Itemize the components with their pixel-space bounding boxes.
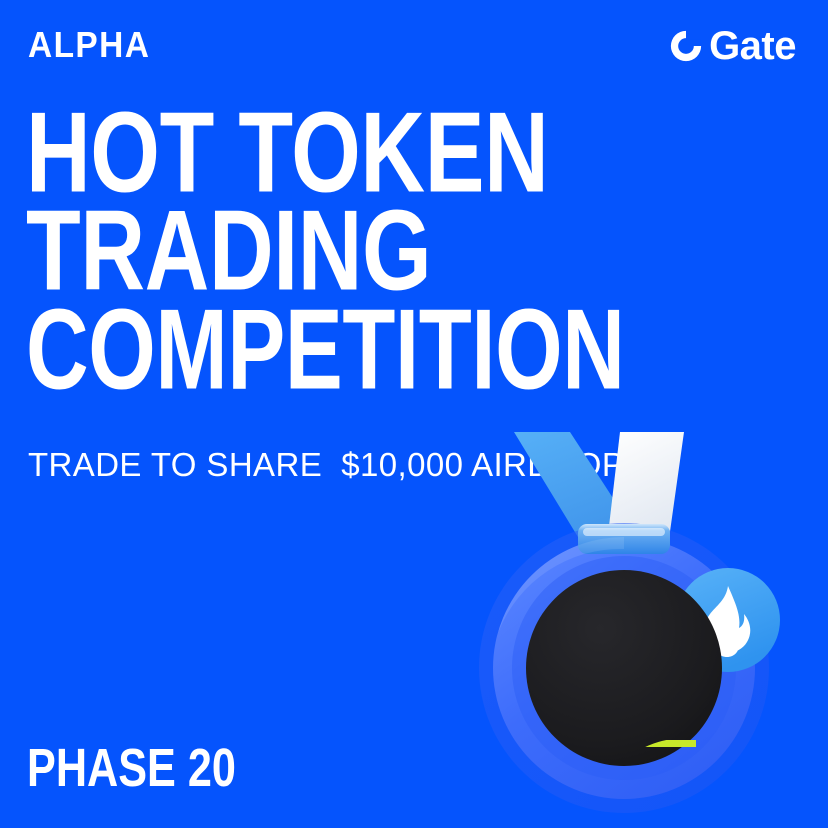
medal-disc <box>526 570 722 766</box>
gate-circle-mark-icon <box>668 28 704 64</box>
promo-poster: ALPHA Gate HOT TOKEN TRADING COMPETITION… <box>0 0 828 828</box>
medal-illustration <box>452 420 828 820</box>
award-medal-icon <box>452 420 828 820</box>
alpha-label: ALPHA <box>28 27 150 63</box>
gate-wordmark: Gate <box>709 26 796 66</box>
headline: HOT TOKEN TRADING COMPETITION <box>26 104 798 397</box>
gate-logo: Gate <box>668 26 796 66</box>
headline-line-3: COMPETITION <box>26 301 625 399</box>
phase-label: PHASE 20 <box>27 741 236 795</box>
